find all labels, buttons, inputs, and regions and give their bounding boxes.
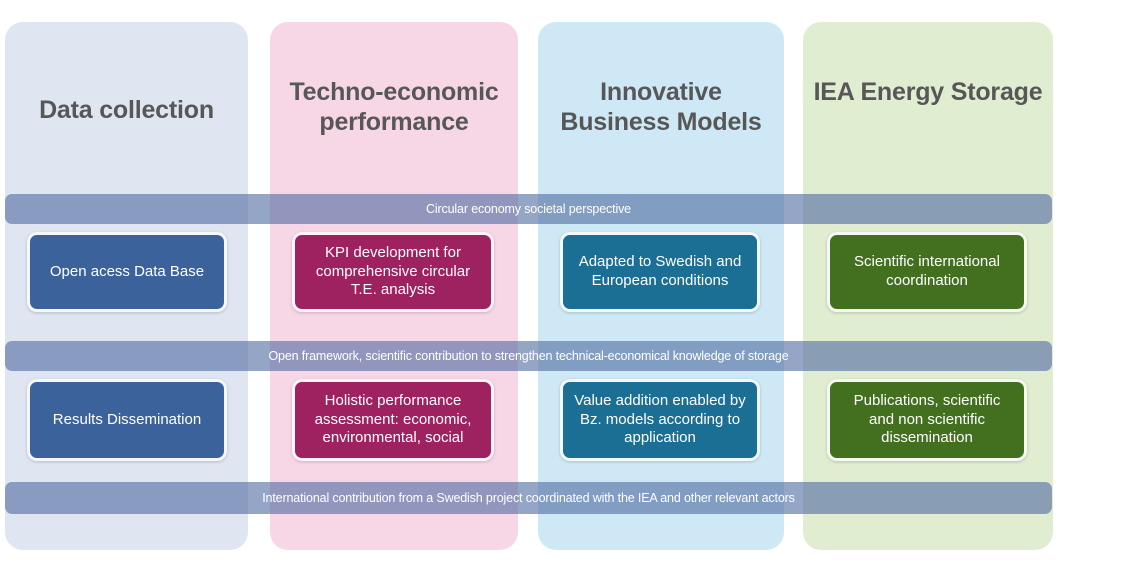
band-international-contribution: International contribution from a Swedis… — [5, 482, 1052, 514]
column-title-techno-economic-performance: Techno-economic performance — [270, 78, 518, 137]
band-open-framework: Open framework, scientific contribution … — [5, 341, 1052, 371]
column-title-iea-energy-storage: IEA Energy Storage — [803, 78, 1053, 108]
cell-techno-economic-row2[interactable]: Holistic performance assessment: economi… — [292, 379, 494, 461]
cell-iea-energy-storage-row1[interactable]: Scientific international coordination — [827, 232, 1027, 312]
cell-techno-economic-row1[interactable]: KPI development for comprehensive circul… — [292, 232, 494, 312]
cell-business-models-row2[interactable]: Value addition enabled by Bz. models acc… — [560, 379, 760, 461]
cell-iea-energy-storage-row2[interactable]: Publications, scientific and non scienti… — [827, 379, 1027, 461]
column-title-innovative-business-models: Innovative Business Models — [538, 78, 784, 137]
column-title-data-collection: Data collection — [5, 96, 248, 126]
cell-data-collection-row2[interactable]: Results Dissemination — [27, 379, 227, 461]
band-circular-economy: Circular economy societal perspective — [5, 194, 1052, 224]
cell-business-models-row1[interactable]: Adapted to Swedish and European conditio… — [560, 232, 760, 312]
cell-data-collection-row1[interactable]: Open acess Data Base — [27, 232, 227, 312]
diagram-canvas: Data collection Techno-economic performa… — [0, 0, 1134, 567]
